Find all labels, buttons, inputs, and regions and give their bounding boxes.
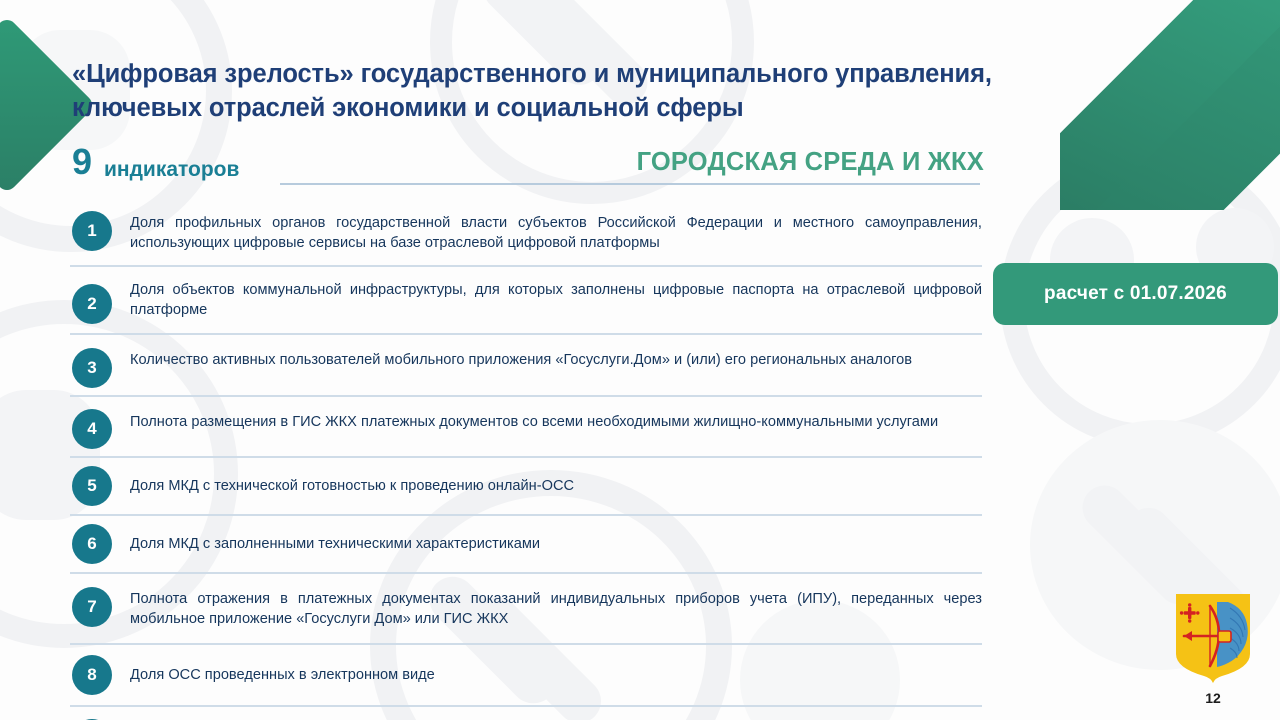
indicator-list: 1 Доля профильных органов государственно… <box>70 200 982 720</box>
indicator-row: 5 Доля МКД с технической готовностью к п… <box>70 456 982 514</box>
indicator-row: 1 Доля профильных органов государственно… <box>70 200 982 265</box>
indicator-text: Доля ОСС проведенных в электронном виде <box>112 655 982 691</box>
top-right-green-stripes-decoration <box>1060 0 1280 210</box>
indicator-text: Полнота отражения в платежных документах… <box>112 583 982 635</box>
indicator-count-number: 9 <box>72 144 92 180</box>
indicator-number-badge: 3 <box>72 348 112 388</box>
indicator-row: 2 Доля объектов коммунальной инфраструкт… <box>70 265 982 332</box>
indicator-number-badge: 2 <box>72 284 112 324</box>
indicator-row: 6 Доля МКД с заполненными техническими х… <box>70 514 982 572</box>
indicator-row: 3 Количество активных пользователей моби… <box>70 333 982 395</box>
indicator-number-badge: 4 <box>72 409 112 449</box>
indicator-number-badge: 7 <box>72 587 112 627</box>
indicator-number-badge: 6 <box>72 524 112 564</box>
indicator-count-label: индикаторов <box>104 159 239 180</box>
indicator-row: 4 Полнота размещения в ГИС ЖКХ платежных… <box>70 395 982 456</box>
page-title: «Цифровая зрелость» государственного и м… <box>72 58 1032 126</box>
section-title: ГОРОДСКАЯ СРЕДА И ЖКХ <box>637 148 984 177</box>
indicator-text: Доля МКД с заполненными техническими хар… <box>112 524 982 560</box>
indicator-text: Доля объектов коммунальной инфраструктур… <box>112 274 982 326</box>
indicator-row: 8 Доля ОСС проведенных в электронном вид… <box>70 643 982 705</box>
indicator-number-badge: 1 <box>72 211 112 251</box>
indicator-number-badge: 8 <box>72 655 112 695</box>
calculation-date-badge: расчет с 01.07.2026 <box>993 263 1278 325</box>
presentation-slide: «Цифровая зрелость» государственного и м… <box>0 0 1280 720</box>
indicator-row: 9 Доля МКД, привязанных к АДС управляющи… <box>70 705 982 720</box>
indicator-number-badge: 5 <box>72 466 112 506</box>
indicator-text: Количество активных пользователей мобиль… <box>112 344 982 376</box>
indicator-text: Доля профильных органов государственной … <box>112 207 982 259</box>
indicator-row: 7 Полнота отражения в платежных документ… <box>70 572 982 643</box>
page-number: 12 <box>1174 690 1252 706</box>
indicator-text: Доля МКД с технической готовностью к про… <box>112 466 982 502</box>
kirov-oblast-coat-of-arms-icon <box>1174 592 1252 684</box>
indicator-count-header: 9 индикаторов ГОРОДСКАЯ СРЕДА И ЖКХ <box>72 148 972 188</box>
indicator-text: Полнота размещения в ГИС ЖКХ платежных д… <box>112 406 982 438</box>
header-divider <box>280 183 980 185</box>
